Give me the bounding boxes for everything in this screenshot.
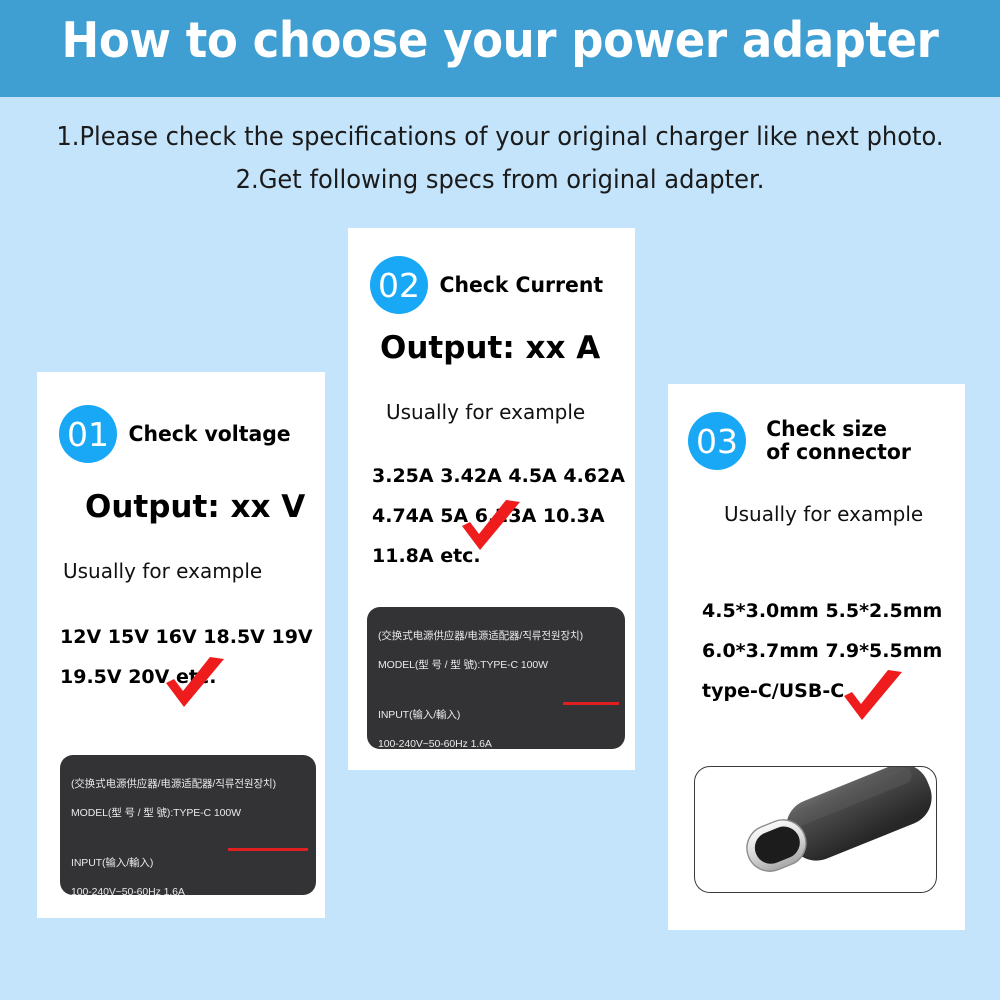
card-01-usually-label: Usually for example bbox=[63, 559, 262, 583]
usb-c-plug-icon bbox=[695, 767, 936, 892]
card-02-title: Check Current bbox=[440, 274, 604, 297]
card-03-usually-label: Usually for example bbox=[724, 502, 923, 526]
card-02-usually-label: Usually for example bbox=[386, 400, 585, 424]
label-line-2: MODEL(型 号 / 型 號):TYPE-C 100W bbox=[71, 806, 306, 821]
card-01-output-label: Output: xx V bbox=[85, 489, 305, 525]
card-01-header: 01 Check voltage bbox=[59, 405, 293, 463]
intro-line-2: 2.Get following specs from original adap… bbox=[35, 159, 965, 202]
card-03-spec-list: 4.5*3.0mm 5.5*2.5mm 6.0*3.7mm 7.9*5.5mm … bbox=[702, 591, 942, 711]
step-badge-03: 03 bbox=[688, 412, 746, 470]
label-line-1: (交换式电源供应器/电源适配器/직류전원장치) bbox=[378, 629, 615, 644]
card-01-spec-list: 12V 15V 16V 18.5V 19V 19.5V 20V etc. bbox=[60, 617, 313, 697]
card-02-spec-list: 3.25A 3.42A 4.5A 4.62A 4.74A 5A 6.23A 10… bbox=[372, 456, 625, 576]
card-02-header: 02 Check Current bbox=[370, 256, 606, 314]
label-line-4: 100-240V~50-60Hz 1.6A bbox=[71, 885, 306, 895]
card-check-voltage: 01 Check voltage Output: xx V Usually fo… bbox=[37, 372, 325, 918]
card-03-header: 03 Check size of connector bbox=[688, 412, 913, 470]
label-spacer bbox=[71, 835, 306, 842]
label-spacer bbox=[378, 687, 615, 694]
adapter-label-text-01: (交换式电源供应器/电源适配器/직류전원장치) MODEL(型 号 / 型 號)… bbox=[60, 755, 316, 895]
adapter-label-text-02: (交换式电源供应器/电源适配器/직류전원장치) MODEL(型 号 / 型 號)… bbox=[367, 607, 625, 749]
adapter-label-photo-01: (交换式电源供应器/电源适配器/직류전원장치) MODEL(型 号 / 型 號)… bbox=[60, 755, 316, 895]
step-badge-01: 01 bbox=[59, 405, 117, 463]
card-check-connector-size: 03 Check size of connector Usually for e… bbox=[668, 384, 965, 930]
step-badge-02: 02 bbox=[370, 256, 428, 314]
intro-text: 1.Please check the specifications of you… bbox=[35, 116, 965, 202]
label-line-1: (交换式电源供应器/电源适配器/직류전원장치) bbox=[71, 777, 306, 792]
label-line-4: 100-240V~50-60Hz 1.6A bbox=[378, 737, 615, 749]
card-check-current: 02 Check Current Output: xx A Usually fo… bbox=[348, 228, 635, 770]
adapter-label-photo-02: (交换式电源供应器/电源适配器/직류전원장치) MODEL(型 号 / 型 號)… bbox=[367, 607, 625, 749]
label-line-3: INPUT(输入/輸入) bbox=[71, 856, 306, 871]
card-01-title: Check voltage bbox=[129, 423, 291, 446]
intro-line-1: 1.Please check the specifications of you… bbox=[35, 116, 965, 159]
label-line-3: INPUT(输入/輸入) bbox=[378, 708, 615, 723]
label-line-2: MODEL(型 号 / 型 號):TYPE-C 100W bbox=[378, 658, 615, 673]
card-02-output-label: Output: xx A bbox=[380, 330, 600, 366]
card-03-title: Check size of connector bbox=[766, 418, 911, 464]
label-red-underline-01 bbox=[228, 848, 308, 851]
label-red-underline-02 bbox=[563, 702, 619, 705]
usb-c-connector-photo bbox=[694, 766, 937, 893]
page-title: How to choose your power adapter bbox=[40, 12, 960, 69]
